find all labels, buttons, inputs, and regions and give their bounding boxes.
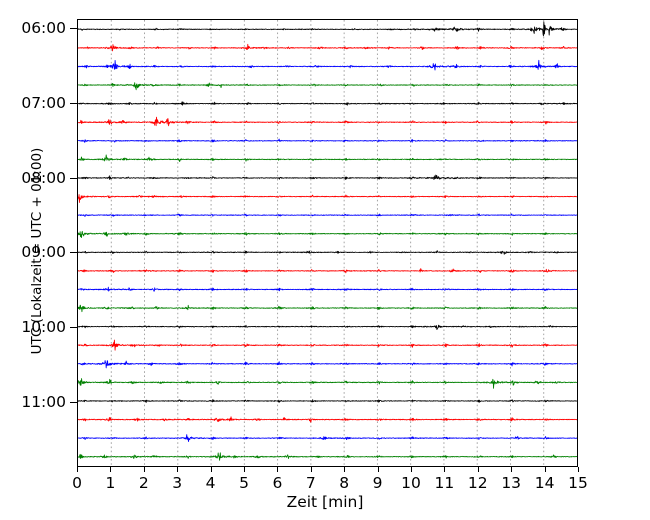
seismogram-trace xyxy=(78,139,577,142)
x-axis-tick-mark xyxy=(378,467,379,472)
y-axis-tick-label: 11:00 xyxy=(21,393,66,411)
x-axis-tick-label: 6 xyxy=(272,474,282,492)
seismogram-traces xyxy=(78,20,577,466)
x-axis-tick-mark xyxy=(311,467,312,472)
x-axis-tick-label: 11 xyxy=(435,474,455,492)
x-axis-tick-label: 0 xyxy=(72,474,82,492)
x-axis-tick-mark xyxy=(511,467,512,472)
seismogram-trace xyxy=(78,22,577,36)
seismogram-trace xyxy=(78,417,577,422)
y-axis-tick-label: 06:00 xyxy=(21,19,66,37)
x-axis-tick-label: 8 xyxy=(339,474,349,492)
x-axis-tick-mark xyxy=(244,467,245,472)
x-axis-tick-label: 14 xyxy=(535,474,555,492)
x-axis-tick-label: 13 xyxy=(501,474,521,492)
seismogram-trace xyxy=(78,83,577,90)
x-axis-tick-label: 10 xyxy=(401,474,421,492)
x-axis-tick-mark xyxy=(110,467,111,472)
y-axis-tick-label: 08:00 xyxy=(21,169,66,187)
x-axis-tick-label: 15 xyxy=(568,474,588,492)
seismogram-trace xyxy=(78,231,577,237)
seismogram-trace xyxy=(78,325,577,329)
x-axis-tick-mark xyxy=(211,467,212,472)
x-axis-tick-mark xyxy=(77,467,78,472)
x-axis-tick-label: 3 xyxy=(172,474,182,492)
x-axis-tick-mark xyxy=(545,467,546,472)
x-axis-tick-mark xyxy=(144,467,145,472)
x-axis-tick-label: 4 xyxy=(206,474,216,492)
seismogram-trace xyxy=(78,287,577,291)
x-axis-tick-mark xyxy=(578,467,579,472)
seismogram-trace xyxy=(78,340,577,350)
seismogram-trace xyxy=(78,214,577,216)
seismogram-trace xyxy=(78,44,577,51)
y-axis-tick-label: 07:00 xyxy=(21,94,66,112)
y-axis-tick-labels: 06:0007:0008:0009:0010:0011:00 xyxy=(0,0,66,520)
seismogram-trace xyxy=(78,435,577,442)
seismogram-trace xyxy=(78,399,577,402)
x-axis-tick-label: 2 xyxy=(139,474,149,492)
x-axis-tick-label: 9 xyxy=(373,474,383,492)
x-axis-tick-label: 7 xyxy=(306,474,316,492)
x-axis-tick-mark xyxy=(277,467,278,472)
seismogram-trace xyxy=(78,155,577,162)
x-axis-tick-mark xyxy=(444,467,445,472)
x-axis-tick-mark xyxy=(344,467,345,472)
seismogram-trace xyxy=(78,60,577,70)
seismogram-trace xyxy=(78,453,577,461)
seismogram-figure: UTC (Lokalzeit = UTC + 01:00) 06:0007:00… xyxy=(0,0,650,520)
seismogram-trace xyxy=(78,305,577,312)
seismogram-trace xyxy=(78,117,577,126)
y-axis-tick-label: 09:00 xyxy=(21,243,66,261)
x-axis-tick-mark xyxy=(411,467,412,472)
seismogram-trace xyxy=(78,379,577,389)
seismogram-trace xyxy=(78,195,577,203)
x-axis-tick-mark xyxy=(478,467,479,472)
plot-area xyxy=(77,19,578,467)
seismogram-trace xyxy=(78,175,577,180)
x-axis-tick-label: 5 xyxy=(239,474,249,492)
x-axis-label: Zeit [min] xyxy=(0,493,650,511)
seismogram-trace xyxy=(78,102,577,106)
x-axis-tick-mark xyxy=(177,467,178,472)
seismogram-trace xyxy=(78,269,577,273)
y-axis-tick-label: 10:00 xyxy=(21,318,66,336)
x-axis-tick-label: 12 xyxy=(468,474,488,492)
x-axis-tick-label: 1 xyxy=(105,474,115,492)
seismogram-trace xyxy=(78,361,577,368)
seismogram-trace xyxy=(78,251,577,255)
